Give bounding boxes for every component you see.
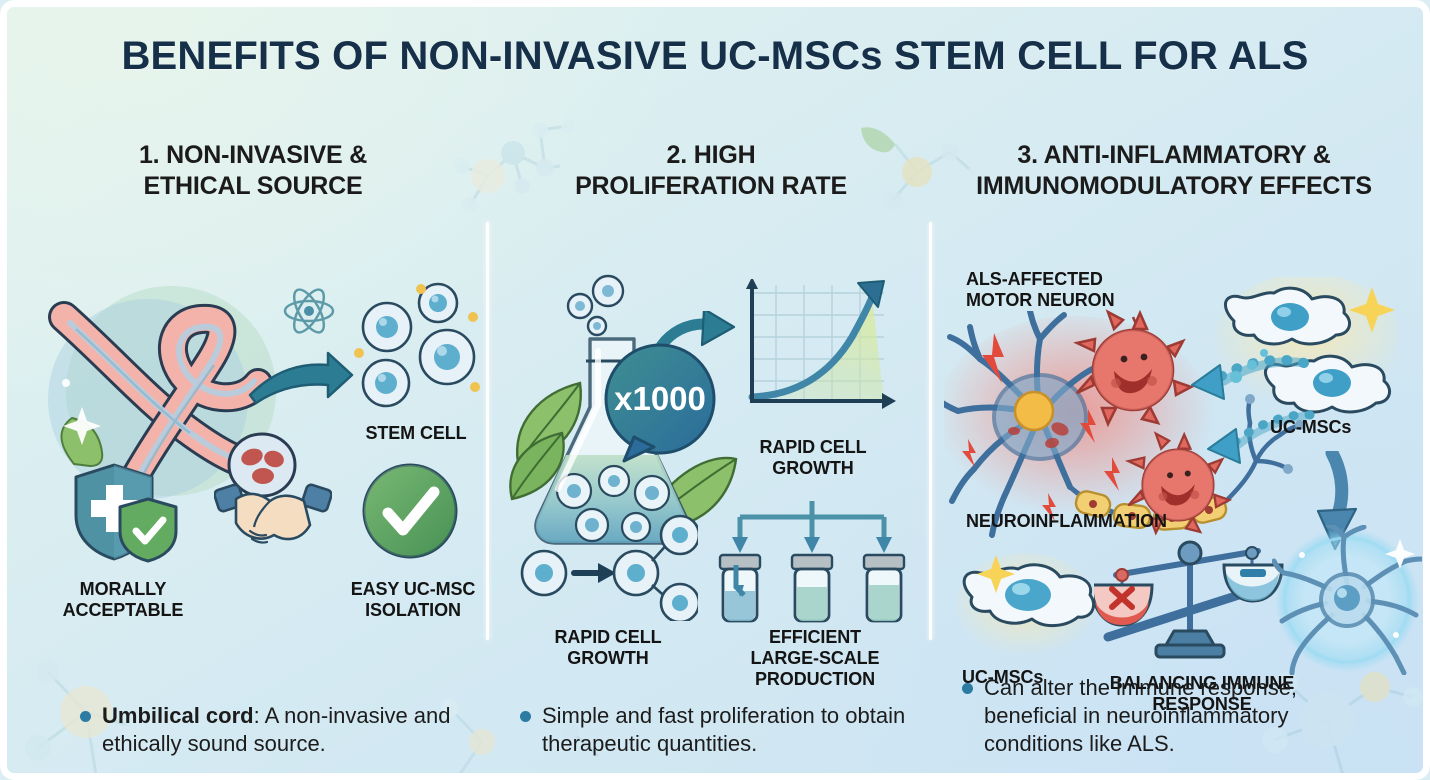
poster-title: BENEFITS OF NON-INVASIVE UC-MSCs STEM CE…: [0, 34, 1430, 79]
cell-division-icon: [518, 511, 698, 621]
caption-easy-isolation: EASY UC-MSC ISOLATION: [330, 579, 496, 621]
column-3-heading: 3. ANTI-INFLAMMATORY & IMMUNOMODULATORY …: [934, 140, 1414, 201]
caption-stem-cell: STEM CELL: [343, 423, 489, 444]
column-non-invasive-ethical-source: 1. NON-INVASIVE & ETHICAL SOURCE: [18, 140, 488, 701]
column-3-illustrations: ALS-AFFECTED MOTOR NEURON: [934, 201, 1414, 701]
check-circle-icon: [358, 459, 462, 563]
multiplier-badge-label: x1000: [600, 343, 720, 455]
column-1-heading-line1: 1. NON-INVASIVE &: [18, 140, 488, 171]
infographic-poster: BENEFITS OF NON-INVASIVE UC-MSCs STEM CE…: [0, 0, 1430, 780]
caption-rapid-cell-growth-cells: RAPID CELL GROWTH: [520, 627, 696, 669]
caption-efficient-production: EFFICIENT LARGE-SCALE PRODUCTION: [720, 627, 910, 690]
column-1-heading-line2: ETHICAL SOURCE: [18, 171, 488, 202]
footer-bullet-3: Can alter the immune response, beneficia…: [962, 674, 1392, 758]
shield-cross-icon: [70, 459, 182, 567]
footer-bullet-1: Umbilical cord: A non-invasive and ethic…: [80, 702, 480, 758]
caption-rapid-cell-growth-chart: RAPID CELL GROWTH: [730, 437, 896, 479]
bullet-dot-icon: [962, 683, 973, 694]
column-2-heading: 2. HIGH PROLIFERATION RATE: [492, 140, 930, 201]
footer-text-3: Can alter the immune response, beneficia…: [984, 674, 1392, 758]
handshake-icon: [214, 473, 332, 555]
stem-cells-icon: [343, 275, 483, 415]
column-anti-inflammatory-immunomodulatory: 3. ANTI-INFLAMMATORY & IMMUNOMODULATORY …: [934, 140, 1414, 701]
caption-morally-acceptable: MORALLY ACCEPTABLE: [30, 579, 216, 621]
column-2-heading-line1: 2. HIGH: [492, 140, 930, 171]
caption-ucmscs-top: UC-MSCs: [1270, 417, 1400, 438]
column-3-heading-line1: 3. ANTI-INFLAMMATORY &: [934, 140, 1414, 171]
bullet-dot-icon: [80, 711, 91, 722]
footer-text-2: Simple and fast proliferation to obtain …: [542, 702, 920, 758]
column-1-heading: 1. NON-INVASIVE & ETHICAL SOURCE: [18, 140, 488, 201]
footer-text-1: Umbilical cord: A non-invasive and ethic…: [102, 702, 480, 758]
footer-rest-2: Simple and fast proliferation to obtain …: [542, 703, 905, 756]
footer-bullet-2: Simple and fast proliferation to obtain …: [520, 702, 920, 758]
balance-scale-icon: [1094, 527, 1284, 667]
healthy-neuron-icon: [1272, 525, 1422, 675]
atom-icon: [281, 283, 337, 339]
immune-cell-icon-top: [1072, 309, 1194, 431]
column-3-heading-line2: IMMUNOMODULATORY EFFECTS: [934, 171, 1414, 202]
footer-rest-3: Can alter the immune response, beneficia…: [984, 675, 1297, 756]
vials-icon: [714, 499, 910, 629]
caption-als-motor-neuron: ALS-AFFECTED MOTOR NEURON: [966, 269, 1156, 311]
column-high-proliferation-rate: 2. HIGH PROLIFERATION RATE: [492, 140, 930, 701]
column-1-illustrations: STEM CELL MORALLY ACCEPTABLE: [18, 201, 488, 701]
arrow-right-icon: [246, 349, 356, 409]
footer-bold-1: Umbilical cord: [102, 703, 254, 728]
growth-chart-icon: [724, 279, 900, 431]
particles-icon: [1224, 341, 1284, 391]
column-2-illustrations: x1000: [492, 201, 930, 701]
column-2-heading-line2: PROLIFERATION RATE: [492, 171, 930, 202]
bullet-dot-icon: [520, 711, 531, 722]
msc-cell-icon-bottom: [956, 553, 1096, 663]
